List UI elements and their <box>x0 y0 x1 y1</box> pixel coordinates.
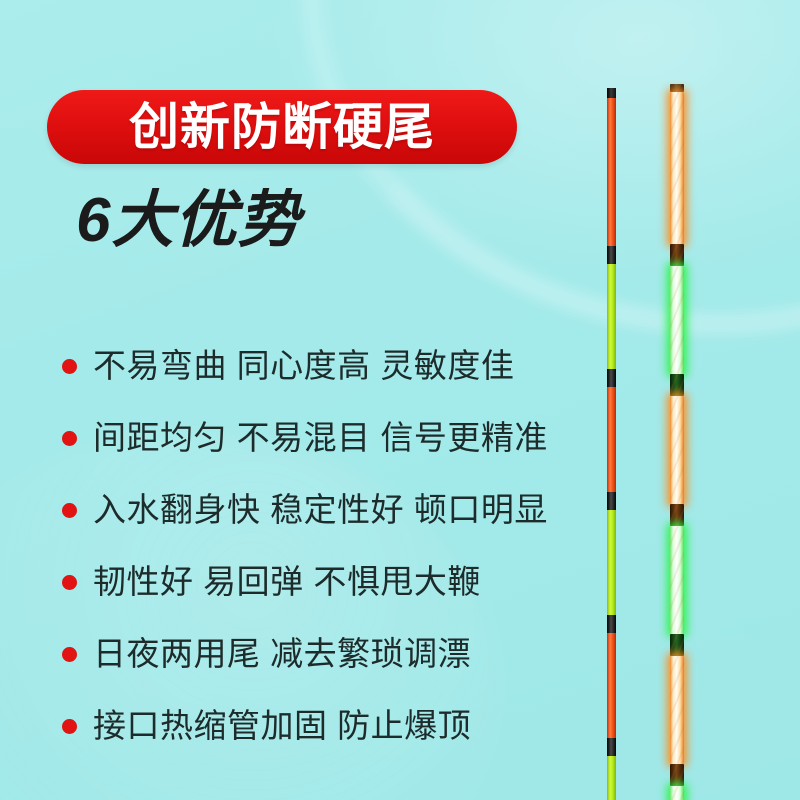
float-segment-black <box>607 246 616 264</box>
float-segment-core <box>670 656 684 764</box>
title-badge-label: 创新防断硬尾 <box>129 102 435 152</box>
advantages-list: 不易弯曲 同心度高 灵敏度佳间距均匀 不易混目 信号更精准入水翻身快 稳定性好 … <box>62 330 562 762</box>
advantage-item: 间距均匀 不易混目 信号更精准 <box>62 402 562 474</box>
bullet-dot-icon <box>62 359 77 374</box>
float-segment-core <box>670 504 684 526</box>
advantage-item: 接口热缩管加固 防止爆顶 <box>62 690 562 762</box>
float-lit-segment-glow-orange <box>670 396 684 504</box>
float-segment-orange <box>607 387 616 492</box>
advantage-item: 不易弯曲 同心度高 灵敏度佳 <box>62 330 562 402</box>
product-float-daylight <box>607 88 616 800</box>
float-segment-core <box>670 526 684 634</box>
float-segment-core <box>670 634 684 656</box>
advantage-item-label: 接口热缩管加固 防止爆顶 <box>93 708 471 744</box>
advantage-item-label: 不易弯曲 同心度高 灵敏度佳 <box>93 348 514 384</box>
float-segment-cap <box>607 88 616 98</box>
float-lit-segment-glow-green <box>670 266 684 374</box>
float-segment-black <box>607 615 616 633</box>
float-segment-core <box>670 244 684 266</box>
advantage-item: 韧性好 易回弹 不惧甩大鞭 <box>62 546 562 618</box>
float-segment-core <box>670 374 684 396</box>
float-lit-segment-band-green <box>670 374 684 396</box>
bullet-dot-icon <box>62 431 77 446</box>
advantage-item-label: 韧性好 易回弹 不惧甩大鞭 <box>93 564 481 600</box>
float-lit-segment-glow-green <box>670 786 684 800</box>
title-badge: 创新防断硬尾 <box>47 90 517 164</box>
float-segment-green <box>607 756 616 800</box>
float-segment-core <box>670 84 684 92</box>
float-lit-segment-glow-green <box>670 526 684 634</box>
float-lit-segment-glow-orange <box>670 656 684 764</box>
float-lit-segment-glow-orange <box>670 92 684 244</box>
page-subheading: 6大优势 <box>76 190 300 252</box>
advantage-item: 入水翻身快 稳定性好 顿口明显 <box>62 474 562 546</box>
bullet-dot-icon <box>62 503 77 518</box>
advantage-item-label: 间距均匀 不易混目 信号更精准 <box>93 420 548 456</box>
float-segment-core <box>670 396 684 504</box>
advantage-item-label: 入水翻身快 稳定性好 顿口明显 <box>93 492 548 528</box>
bullet-dot-icon <box>62 719 77 734</box>
float-segment-orange <box>607 633 616 738</box>
product-float-illuminated <box>670 84 684 800</box>
float-segment-core <box>670 764 684 786</box>
float-segment-core <box>670 92 684 244</box>
float-lit-segment-band-orange <box>670 764 684 786</box>
float-segment-core <box>670 786 684 800</box>
advantage-item: 日夜两用尾 减去繁琐调漂 <box>62 618 562 690</box>
float-lit-segment-cap <box>670 84 684 92</box>
float-lit-segment-band-orange <box>670 244 684 266</box>
float-segment-green <box>607 264 616 369</box>
float-segment-black <box>607 492 616 510</box>
float-segment-black <box>607 738 616 756</box>
bullet-dot-icon <box>62 575 77 590</box>
float-segment-core <box>670 266 684 374</box>
float-segment-green <box>607 510 616 615</box>
advantage-item-label: 日夜两用尾 减去繁琐调漂 <box>93 636 471 672</box>
float-segment-orange <box>607 98 616 246</box>
float-lit-segment-band-orange <box>670 504 684 526</box>
poster-canvas: 创新防断硬尾 6大优势 不易弯曲 同心度高 灵敏度佳间距均匀 不易混目 信号更精… <box>0 0 800 800</box>
bullet-dot-icon <box>62 647 77 662</box>
float-segment-black <box>607 369 616 387</box>
float-lit-segment-band-green <box>670 634 684 656</box>
